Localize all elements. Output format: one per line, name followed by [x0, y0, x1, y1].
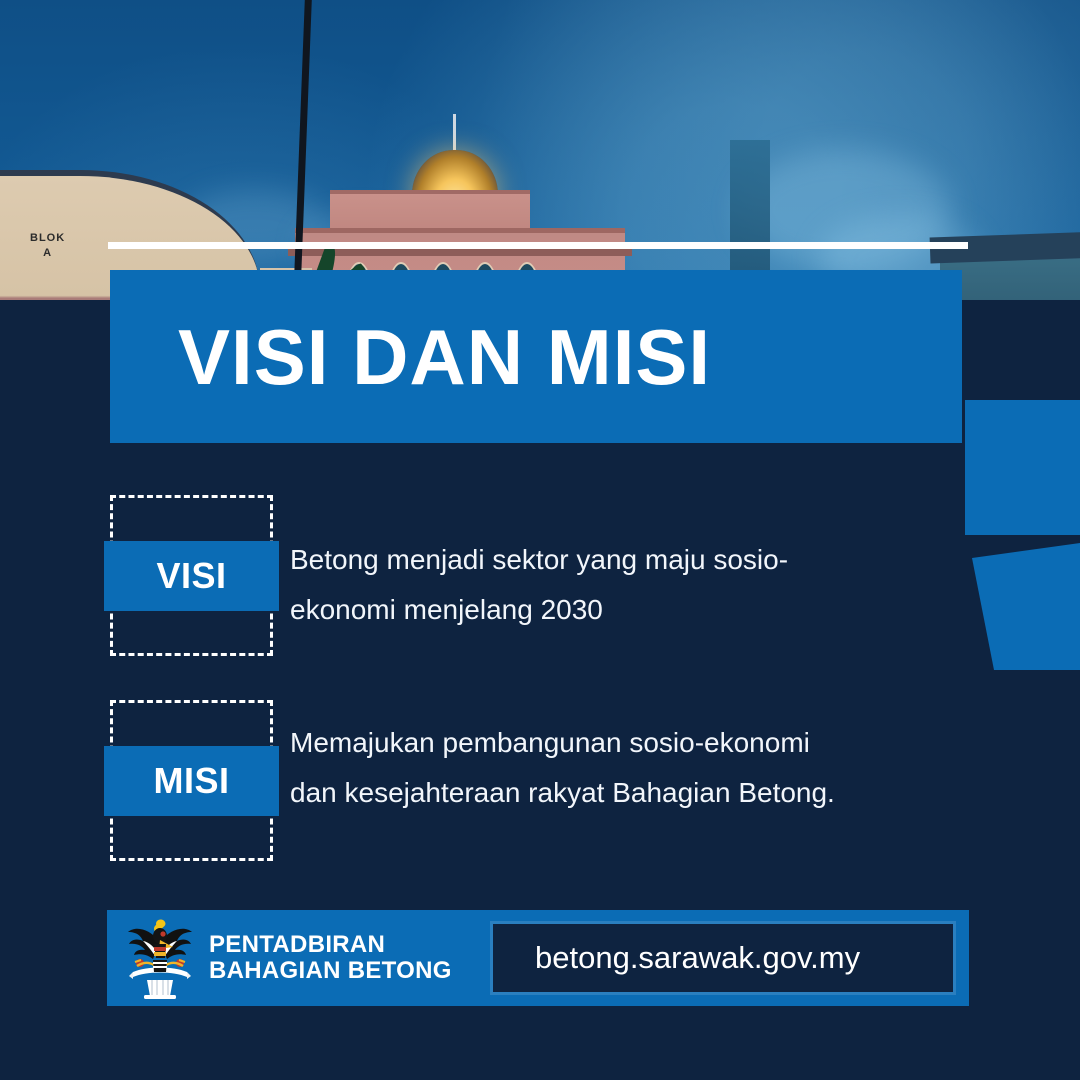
sarawak-coat-of-arms-icon: [123, 916, 197, 1000]
website-url[interactable]: betong.sarawak.gov.my: [493, 940, 860, 976]
visi-badge-wrap: VISI: [0, 495, 290, 660]
spire: [453, 114, 456, 154]
poster: BLOK A VISI DAN MISI: [0, 0, 1080, 1080]
accent-shape-right: [965, 400, 1080, 535]
title-banner: VISI DAN MISI: [110, 270, 962, 443]
organisation-name: PENTADBIRAN BAHAGIAN BETONG: [209, 932, 452, 985]
website-panel[interactable]: betong.sarawak.gov.my: [490, 921, 956, 995]
misi-row: MISI Memajukan pembangunan sosio-ekonomi…: [0, 700, 850, 865]
org-line-2: BAHAGIAN BETONG: [209, 958, 452, 984]
org-line-1: PENTADBIRAN: [209, 932, 452, 958]
visi-badge: VISI: [104, 541, 279, 611]
misi-badge-wrap: MISI: [0, 700, 290, 865]
footer-bar: PENTADBIRAN BAHAGIAN BETONG betong.saraw…: [107, 910, 969, 1006]
page-title: VISI DAN MISI: [110, 318, 711, 396]
visi-badge-label: VISI: [156, 555, 226, 597]
visi-statement: Betong menjadi sektor yang maju sosio-ek…: [290, 495, 850, 635]
visi-row: VISI Betong menjadi sektor yang maju sos…: [0, 495, 850, 660]
misi-statement: Memajukan pembangunan sosio-ekonomi dan …: [290, 700, 850, 818]
misi-badge: MISI: [104, 746, 279, 816]
misi-badge-label: MISI: [153, 760, 229, 802]
title-rule: [108, 242, 968, 249]
blok-a-label: BLOK A: [30, 231, 65, 261]
